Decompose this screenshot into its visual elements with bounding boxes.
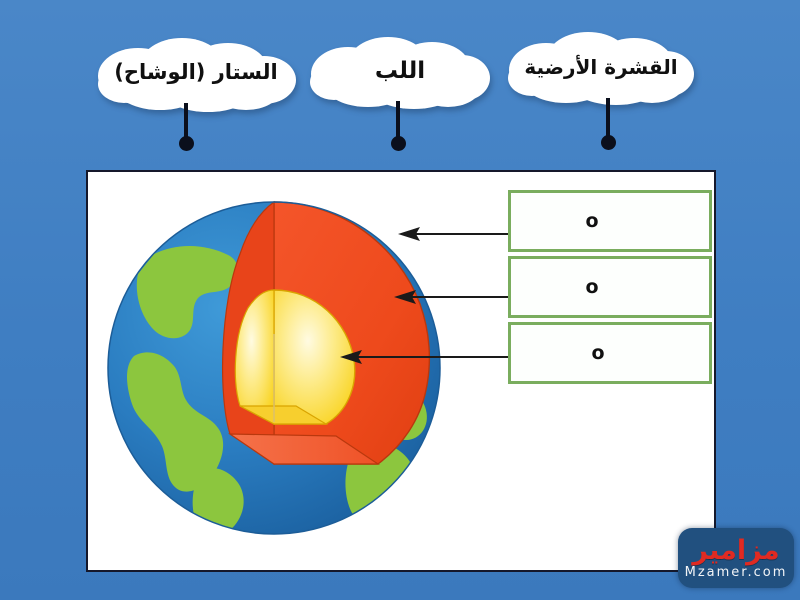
content-panel: o o o [86,170,716,572]
arrow-to-mantle [390,290,514,304]
cloud-label-mantle: الستار (الوشاح) [96,32,296,112]
connector-pin-core [390,101,406,151]
cloud-label-crust: القشرة الأرضية [508,28,694,106]
answer-box-1-marker: o [585,212,598,231]
answer-box-1[interactable]: o [508,190,712,252]
answer-box-2-marker: o [585,278,598,297]
answer-box-2[interactable]: o [508,256,712,318]
arrow-to-core [334,350,514,364]
cloud-label-core-text: اللب [375,60,425,83]
pin-dot [601,135,616,150]
cloud-label-crust-text: القشرة الأرضية [524,57,677,77]
slide-background: الستار (الوشاح) اللب [0,0,800,600]
arrow-to-crust [394,227,514,241]
pin-dot [391,136,406,151]
answer-box-3[interactable]: o [508,322,712,384]
answer-box-3-marker: o [591,344,604,363]
connector-pin-mantle [178,103,194,151]
connector-pin-crust [600,98,616,150]
cloud-label-core: اللب [310,32,490,110]
cloud-label-mantle-text: الستار (الوشاح) [114,62,277,83]
watermark-latin-text: Mzamer.com [685,566,788,579]
watermark-arabic-text: مزامير [692,537,779,564]
pin-dot [179,136,194,151]
watermark: مزامير Mzamer.com [678,528,794,588]
